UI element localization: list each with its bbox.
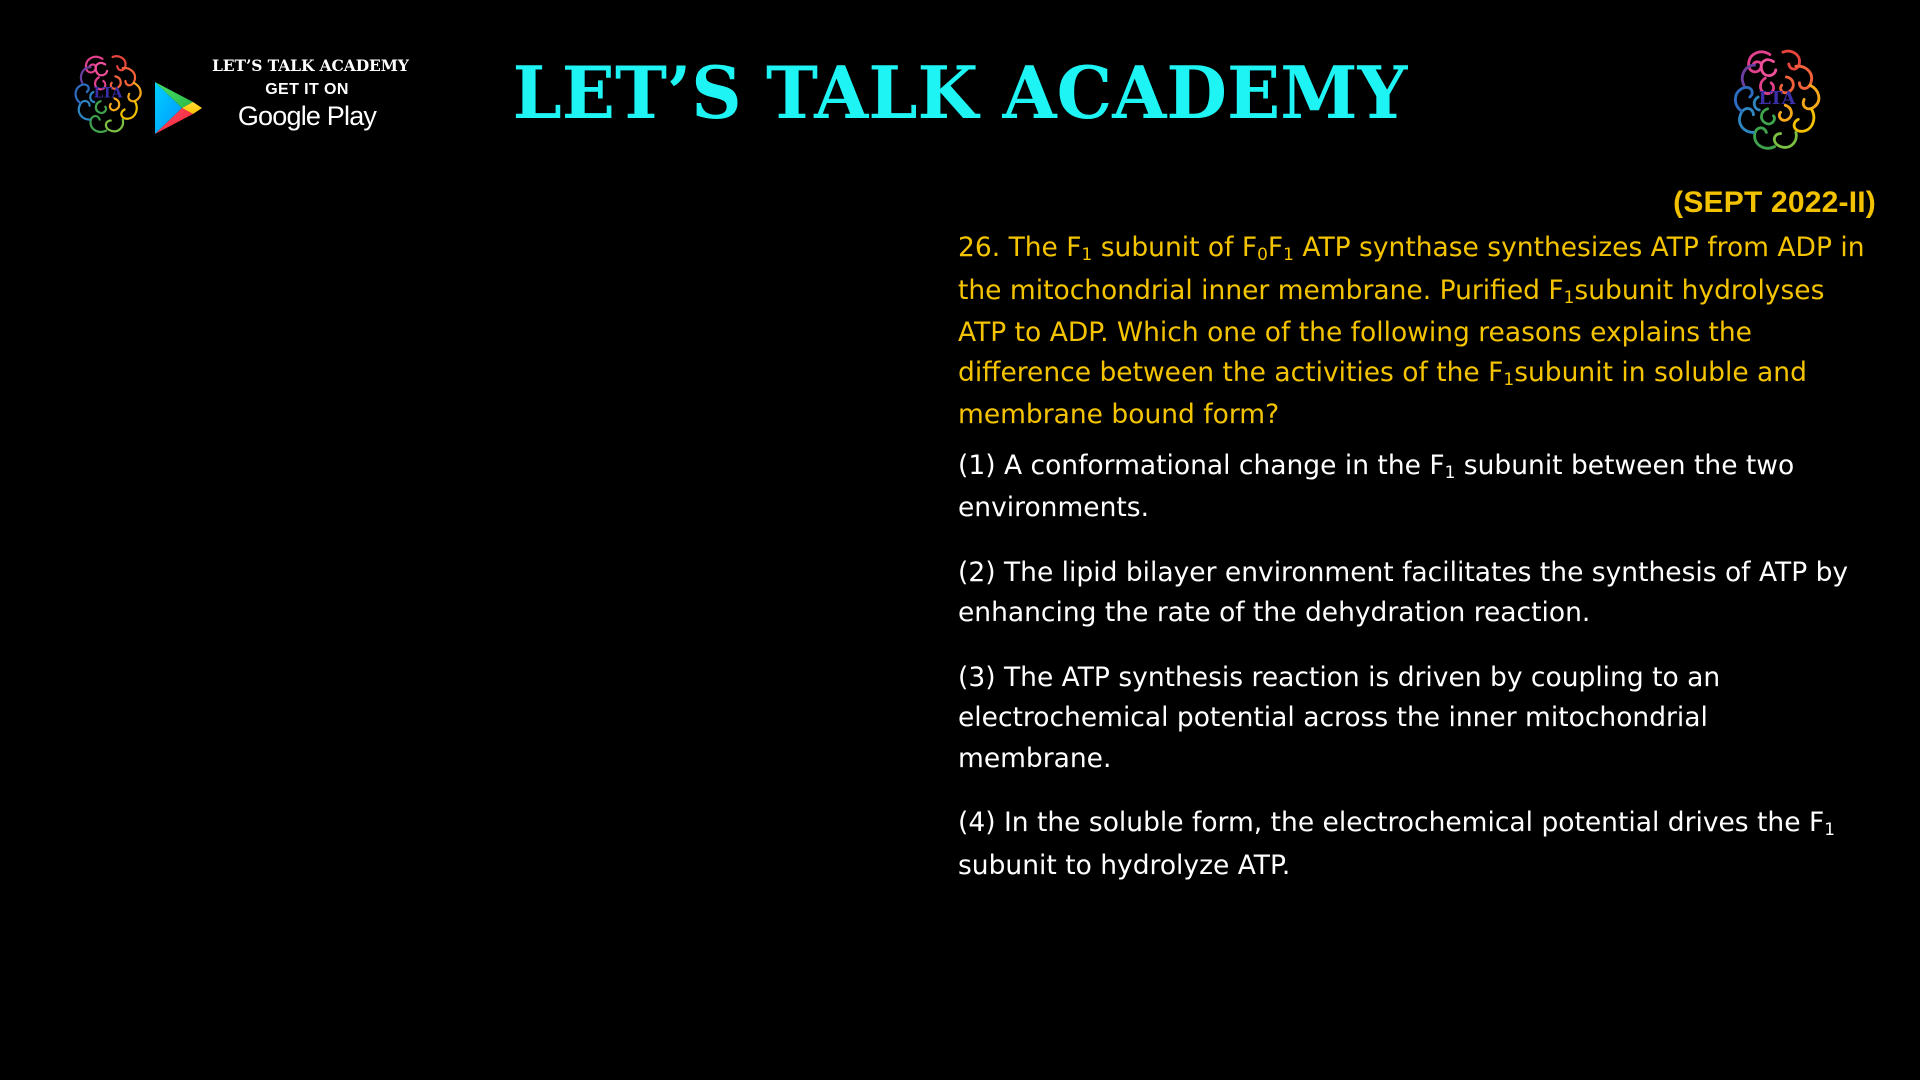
options-list: (1) A conformational change in the F1 su… [958, 446, 1878, 887]
option-item-4[interactable]: (4) In the soluble form, the electrochem… [958, 803, 1858, 886]
option-item-3[interactable]: (3) The ATP synthesis reaction is driven… [958, 658, 1858, 780]
exam-session-badge: (SEPT 2022-II) [958, 184, 1878, 222]
slide-header: LTA [0, 0, 1920, 175]
option-item-2[interactable]: (2) The lipid bilayer environment facili… [958, 553, 1858, 634]
question-panel: (SEPT 2022-II) 26. The F1 subunit of F0F… [958, 184, 1878, 886]
logo-text-lta: LTA [1759, 88, 1796, 109]
protein-ribbon-logo-right: LTA [1718, 38, 1836, 156]
slide-canvas: LTA [0, 0, 1920, 1080]
protein-ribbon-icon: LTA [1718, 38, 1836, 156]
page-title: LET’S TALK ACADEMY [29, 52, 1891, 134]
option-item-1[interactable]: (1) A conformational change in the F1 su… [958, 446, 1858, 529]
question-text: 26. The F1 subunit of F0F1 ATP synthase … [958, 228, 1868, 435]
